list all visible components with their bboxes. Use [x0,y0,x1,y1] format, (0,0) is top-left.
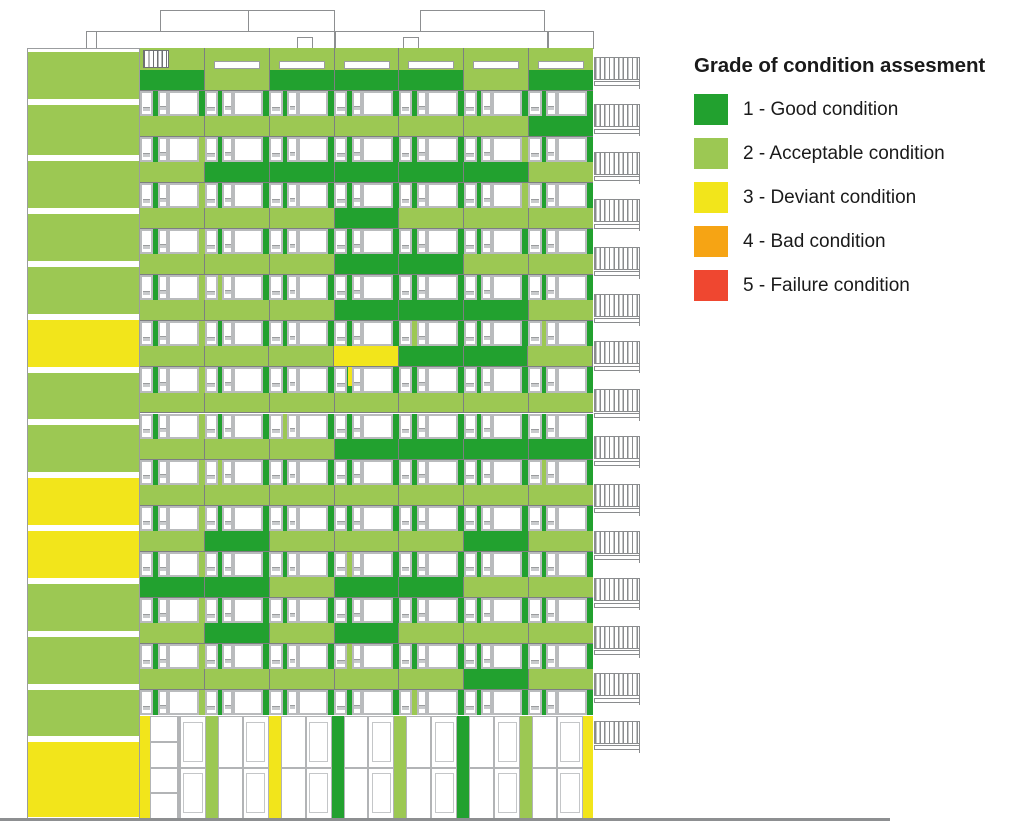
window-bay-r10-b3 [334,552,399,577]
window-bay-r9-b3 [334,506,399,531]
balcony-slab-11 [594,603,640,608]
window-pane-left-r8-b2 [269,460,282,485]
window-pane-left-r5-b0 [140,321,153,346]
window-pane-left-r9-b4 [399,506,412,531]
ground-glass-pane-2-1 [281,768,306,820]
window-pane-small-r2-b3 [352,183,363,208]
balcony-slab-12 [594,650,640,655]
window-pane-small-r2-b5 [481,183,492,208]
window-pane-small-r4-b1 [222,275,233,300]
balcony-post-12 [636,626,640,658]
window-bay-r2-b5 [464,183,529,208]
ground-door-pane-6-1 [557,768,583,820]
window-row-13 [140,690,593,715]
spandrel-cell-r4-b6 [529,254,593,275]
window-pane-wide-r13-b4 [427,690,457,715]
spandrel-cell-r11-b1 [205,577,270,598]
left-wall-band-8 [28,478,139,525]
ground-pier-7 [583,716,593,819]
window-bay-r9-b5 [464,506,529,531]
window-pane-small-r2-b4 [417,183,428,208]
balcony-railing-7 [594,389,640,412]
window-pane-small-r7-b5 [481,414,492,439]
spandrel-cell-r0-b5 [464,70,529,91]
spandrel-row-0 [140,70,593,91]
window-pane-wide-r11-b2 [298,598,328,623]
window-row-1 [140,137,593,162]
window-pane-small-r9-b4 [417,506,428,531]
window-pane-wide-r2-b2 [298,183,328,208]
spandrel-cell-r1-b2 [270,116,335,137]
window-pane-wide-r3-b6 [557,229,587,254]
window-bay-r1-b1 [205,137,270,162]
balcony-12 [594,626,640,658]
ground-glass-pane-5-1 [469,768,494,820]
spandrel-cell-r7-b5 [464,393,529,414]
window-pane-wide-r13-b0 [168,690,198,715]
attic-cell-1 [205,48,270,70]
window-pane-left-r3-b4 [399,229,412,254]
legend-swatch-4 [694,226,728,257]
window-pane-wide-r7-b5 [492,414,522,439]
ground-glass-pane-3-1 [344,768,369,820]
window-bay-r13-b0 [140,690,205,715]
window-pane-left-r6-b2 [269,367,282,392]
window-pane-small-r12-b3 [352,644,363,669]
window-pane-left-r8-b5 [464,460,477,485]
balcony-slab-2 [594,176,640,181]
window-pane-wide-r12-b2 [298,644,328,669]
window-pane-small-r6-b2 [287,367,298,392]
spandrel-row-11 [140,577,593,598]
window-pane-left-r0-b2 [269,91,282,116]
window-pane-small-r5-b5 [481,321,492,346]
balcony-railing-3 [594,199,640,222]
window-pane-left-r12-b4 [399,644,412,669]
window-pane-wide-r13-b2 [298,690,328,715]
window-bay-r2-b4 [399,183,464,208]
window-pane-small-r8-b2 [287,460,298,485]
window-pane-small-r4-b6 [546,275,557,300]
balcony-railing-12 [594,626,640,649]
window-pane-left-r13-b5 [464,690,477,715]
window-bay-r13-b6 [528,690,593,715]
window-bay-r4-b4 [399,275,464,300]
window-pane-small-r13-b3 [352,690,363,715]
spandrel-cell-r4-b3 [335,254,400,275]
ground-bay-4-tier-0 [406,716,457,768]
left-wall-band-7 [28,425,139,472]
window-bay-r4-b0 [140,275,205,300]
window-pane-left-r4-b5 [464,275,477,300]
left-wall-band-11 [28,637,139,684]
left-wall-band-4 [28,267,139,314]
spandrel-cell-r4-b2 [270,254,335,275]
left-wall-band-10 [28,584,139,631]
window-pane-wide-r1-b5 [492,137,522,162]
window-bay-r3-b0 [140,229,205,254]
spandrel-cell-r12-b3 [335,623,400,644]
window-pane-small-r8-b1 [222,460,233,485]
window-pane-wide-r1-b4 [427,137,457,162]
window-bay-r8-b2 [269,460,334,485]
spandrel-row-6 [140,346,593,367]
window-bay-r1-b3 [334,137,399,162]
window-pane-wide-r4-b2 [298,275,328,300]
window-pane-left-r4-b6 [528,275,541,300]
window-pane-left-r11-b2 [269,598,282,623]
window-bay-r7-b0 [140,414,205,439]
attic-cell-2 [270,48,335,70]
spandrel-row-3 [140,208,593,229]
ground-door-pane-4-0 [431,716,457,768]
window-bay-r6-b3 [334,367,399,392]
window-bay-r1-b4 [399,137,464,162]
deviant-mullion-marker [348,367,352,386]
balcony-post-6 [636,341,640,373]
window-pane-wide-r11-b5 [492,598,522,623]
ground-bay-0-tier-0 [150,716,206,768]
window-pane-small-r9-b6 [546,506,557,531]
ground-glass-pane-6-1 [532,768,557,820]
attic-cell-4 [399,48,464,70]
window-pane-left-r11-b0 [140,598,153,623]
window-pane-wide-r12-b1 [233,644,263,669]
window-pane-wide-r10-b1 [233,552,263,577]
balcony-slab-3 [594,224,640,229]
window-bay-r5-b0 [140,321,205,346]
window-pane-small-r1-b4 [417,137,428,162]
window-pane-wide-r1-b3 [362,137,392,162]
window-bay-r7-b3 [334,414,399,439]
window-bay-r10-b6 [528,552,593,577]
window-pane-left-r0-b0 [140,91,153,116]
window-row-10 [140,552,593,577]
legend-swatch-1 [694,94,728,125]
window-pane-left-r11-b5 [464,598,477,623]
window-pane-wide-r1-b1 [233,137,263,162]
balcony-post-14 [636,721,640,753]
spandrel-cell-r4-b4 [399,254,464,275]
window-pane-small-r7-b2 [287,414,298,439]
spandrel-cell-r5-b4 [399,300,464,321]
window-pane-left-r10-b4 [399,552,412,577]
balcony-slab-4 [594,271,640,276]
ground-door-pane-2-0 [306,716,332,768]
legend-label-3: 3 - Deviant condition [743,187,916,209]
balcony-post-13 [636,673,640,705]
ground-floor-glazing [140,716,593,819]
pier-r9-b6 [587,506,593,531]
spandrel-cell-r6-b4 [399,346,464,367]
window-pane-small-r3-b4 [417,229,428,254]
window-pane-left-r13-b3 [334,690,347,715]
legend-swatch-3 [694,182,728,213]
attic-cell-0 [140,48,205,70]
window-pane-left-r3-b2 [269,229,282,254]
window-pane-left-r4-b4 [399,275,412,300]
balcony-slab-5 [594,318,640,323]
pier-r6-b6 [587,367,593,392]
attic-window-4 [408,61,454,68]
balcony-railing-0 [594,57,640,80]
spandrel-cell-r8-b5 [464,439,529,460]
window-pane-left-r7-b6 [528,414,541,439]
window-pane-wide-r3-b4 [427,229,457,254]
window-pane-small-r12-b5 [481,644,492,669]
window-pane-small-r6-b6 [546,367,557,392]
window-pane-left-r2-b4 [399,183,412,208]
window-pane-wide-r10-b5 [492,552,522,577]
spandrel-row-4 [140,254,593,275]
window-bay-r4-b3 [334,275,399,300]
left-wall-band-12 [28,690,139,737]
window-pane-left-r9-b5 [464,506,477,531]
attic-cell-6 [529,48,593,70]
ground-bay-5-tier-1 [469,768,520,820]
window-pane-wide-r8-b4 [427,460,457,485]
window-bay-r11-b2 [269,598,334,623]
spandrel-cell-r8-b1 [205,439,270,460]
window-row-2 [140,183,593,208]
window-pane-wide-r2-b5 [492,183,522,208]
ground-bay-2-tier-0 [281,716,332,768]
window-pane-small-r7-b3 [352,414,363,439]
window-pane-left-r6-b4 [399,367,412,392]
window-pane-wide-r13-b3 [362,690,392,715]
balcony-post-0 [636,57,640,89]
window-pane-small-r0-b6 [546,91,557,116]
pier-r1-b6 [587,137,593,162]
window-pane-small-r4-b4 [417,275,428,300]
spandrel-cell-r1-b0 [140,116,205,137]
window-bay-r12-b6 [528,644,593,669]
legend-label-1: 1 - Good condition [743,99,898,121]
pier-r2-b6 [587,183,593,208]
window-pane-small-r9-b3 [352,506,363,531]
left-wall-band-3 [28,214,139,261]
balcony-slab-7 [594,413,640,418]
window-pane-wide-r0-b0 [168,91,198,116]
window-pane-wide-r8-b1 [233,460,263,485]
spandrel-cell-r11-b4 [399,577,464,598]
window-pane-wide-r9-b5 [492,506,522,531]
window-bay-r4-b1 [205,275,270,300]
window-pane-left-r5-b2 [269,321,282,346]
spandrel-cell-r0-b2 [270,70,335,91]
spandrel-cell-r8-b0 [140,439,205,460]
balcony-post-11 [636,578,640,610]
spandrel-cell-r11-b3 [335,577,400,598]
window-row-11 [140,598,593,623]
spandrel-cell-r3-b1 [205,208,270,229]
spandrel-cell-r3-b6 [529,208,593,229]
window-pane-left-r0-b1 [205,91,218,116]
window-pane-small-r7-b6 [546,414,557,439]
spandrel-cell-r1-b6 [529,116,593,137]
spandrel-cell-r10-b1 [205,531,270,552]
window-pane-wide-r10-b3 [362,552,392,577]
window-pane-wide-r11-b3 [362,598,392,623]
window-pane-wide-r10-b6 [557,552,587,577]
window-bay-r8-b3 [334,460,399,485]
window-pane-left-r7-b5 [464,414,477,439]
window-bay-r13-b3 [334,690,399,715]
window-pane-small-r6-b0 [158,367,169,392]
ground-bay-1 [218,716,269,819]
window-bay-r5-b1 [205,321,270,346]
window-pane-wide-r6-b5 [492,367,522,392]
spandrel-cell-r6-b5 [464,346,529,367]
window-pane-small-r5-b3 [352,321,363,346]
roof-parapet-5 [86,31,97,49]
window-pane-left-r0-b3 [334,91,347,116]
window-pane-wide-r3-b1 [233,229,263,254]
window-bay-r13-b5 [464,690,529,715]
balcony-5 [594,294,640,326]
spandrel-cell-r13-b4 [399,669,464,690]
window-pane-wide-r5-b5 [492,321,522,346]
window-pane-small-r1-b5 [481,137,492,162]
window-pane-wide-r8-b2 [298,460,328,485]
window-pane-wide-r4-b1 [233,275,263,300]
window-pane-small-r3-b3 [352,229,363,254]
window-pane-left-r2-b1 [205,183,218,208]
window-bay-r0-b0 [140,91,205,116]
window-pane-left-r7-b0 [140,414,153,439]
window-pane-wide-r4-b0 [168,275,198,300]
window-pane-wide-r5-b3 [362,321,392,346]
window-bay-r6-b2 [269,367,334,392]
window-bay-r1-b0 [140,137,205,162]
window-bay-r10-b0 [140,552,205,577]
window-pane-small-r4-b3 [352,275,363,300]
window-pane-left-r6-b5 [464,367,477,392]
ground-door-pane-0-0 [180,716,206,768]
balcony-10 [594,531,640,563]
spandrel-cell-r2-b4 [399,162,464,183]
spandrel-cell-r5-b3 [335,300,400,321]
spandrel-row-5 [140,300,593,321]
window-bay-r0-b2 [269,91,334,116]
spandrel-cell-r2-b0 [140,162,205,183]
balcony-post-2 [636,152,640,184]
ground-door-pane-2-1 [306,768,332,820]
spandrel-row-13 [140,669,593,690]
window-pane-wide-r8-b6 [557,460,587,485]
spandrel-cell-r8-b3 [335,439,400,460]
window-pane-wide-r5-b1 [233,321,263,346]
window-pane-small-r11-b5 [481,598,492,623]
window-pane-wide-r8-b5 [492,460,522,485]
window-pane-wide-r2-b1 [233,183,263,208]
ground-door-pane-5-1 [494,768,520,820]
window-pane-left-r0-b6 [528,91,541,116]
legend-item-5: 5 - Failure condition [694,270,985,301]
ground-bay-3-tier-0 [344,716,395,768]
spandrel-cell-r9-b4 [399,485,464,506]
window-pane-wide-r12-b6 [557,644,587,669]
spandrel-cell-r10-b0 [140,531,205,552]
window-bay-r3-b3 [334,229,399,254]
window-pane-small-r9-b1 [222,506,233,531]
balcony-13 [594,673,640,705]
window-pane-wide-r8-b3 [362,460,392,485]
pier-r12-b6 [587,644,593,669]
window-pane-wide-r9-b0 [168,506,198,531]
window-pane-left-r2-b3 [334,183,347,208]
window-pane-left-r4-b3 [334,275,347,300]
balcony-railing-2 [594,152,640,175]
window-pane-small-r1-b1 [222,137,233,162]
pier-r5-b6 [587,321,593,346]
spandrel-cell-r10-b5 [464,531,529,552]
spandrel-cell-r13-b6 [529,669,593,690]
balcony-railing-10 [594,531,640,554]
window-bay-r6-b6 [528,367,593,392]
window-pane-left-r5-b3 [334,321,347,346]
window-pane-wide-r0-b1 [233,91,263,116]
window-row-4 [140,275,593,300]
legend-swatch-5 [694,270,728,301]
spandrel-cell-r3-b2 [270,208,335,229]
ground-bay-0 [150,716,206,819]
window-pane-small-r9-b2 [287,506,298,531]
window-pane-wide-r7-b0 [168,414,198,439]
ground-bay-3 [344,716,395,819]
window-pane-left-r6-b0 [140,367,153,392]
ground-door-pane-1-1 [243,768,269,820]
window-pane-small-r1-b6 [546,137,557,162]
ground-door-pane-5-0 [494,716,520,768]
window-bay-r8-b4 [399,460,464,485]
spandrel-cell-r10-b3 [335,531,400,552]
window-pane-left-r11-b3 [334,598,347,623]
balcony-post-3 [636,199,640,231]
ground-door-pane-6-0 [557,716,583,768]
left-wall-band-5 [28,320,139,367]
window-pane-small-r0-b2 [287,91,298,116]
legend-item-3: 3 - Deviant condition [694,182,985,213]
window-pane-wide-r7-b4 [427,414,457,439]
spandrel-cell-r9-b0 [140,485,205,506]
window-pane-left-r6-b3 [334,367,347,392]
spandrel-row-7 [140,393,593,414]
balcony-slab-6 [594,366,640,371]
pier-r0-b6 [587,91,593,116]
ground-bay-0-tier-1 [150,768,206,820]
window-bay-r9-b6 [528,506,593,531]
ground-bay-1-tier-1 [218,768,269,820]
window-pane-wide-r4-b5 [492,275,522,300]
window-pane-left-r7-b3 [334,414,347,439]
window-pane-small-r11-b2 [287,598,298,623]
window-pane-small-r2-b1 [222,183,233,208]
spandrel-cell-r0-b6 [529,70,593,91]
window-bay-r9-b4 [399,506,464,531]
window-pane-left-r3-b0 [140,229,153,254]
spandrel-cell-r12-b6 [529,623,593,644]
window-bay-r0-b1 [205,91,270,116]
window-pane-left-r5-b5 [464,321,477,346]
spandrel-cell-r9-b1 [205,485,270,506]
window-pane-small-r3-b0 [158,229,169,254]
spandrel-cell-r13-b3 [335,669,400,690]
window-pane-wide-r0-b2 [298,91,328,116]
ground-bay-6-tier-1 [532,768,583,820]
window-pane-left-r10-b5 [464,552,477,577]
ground-line [0,818,890,821]
